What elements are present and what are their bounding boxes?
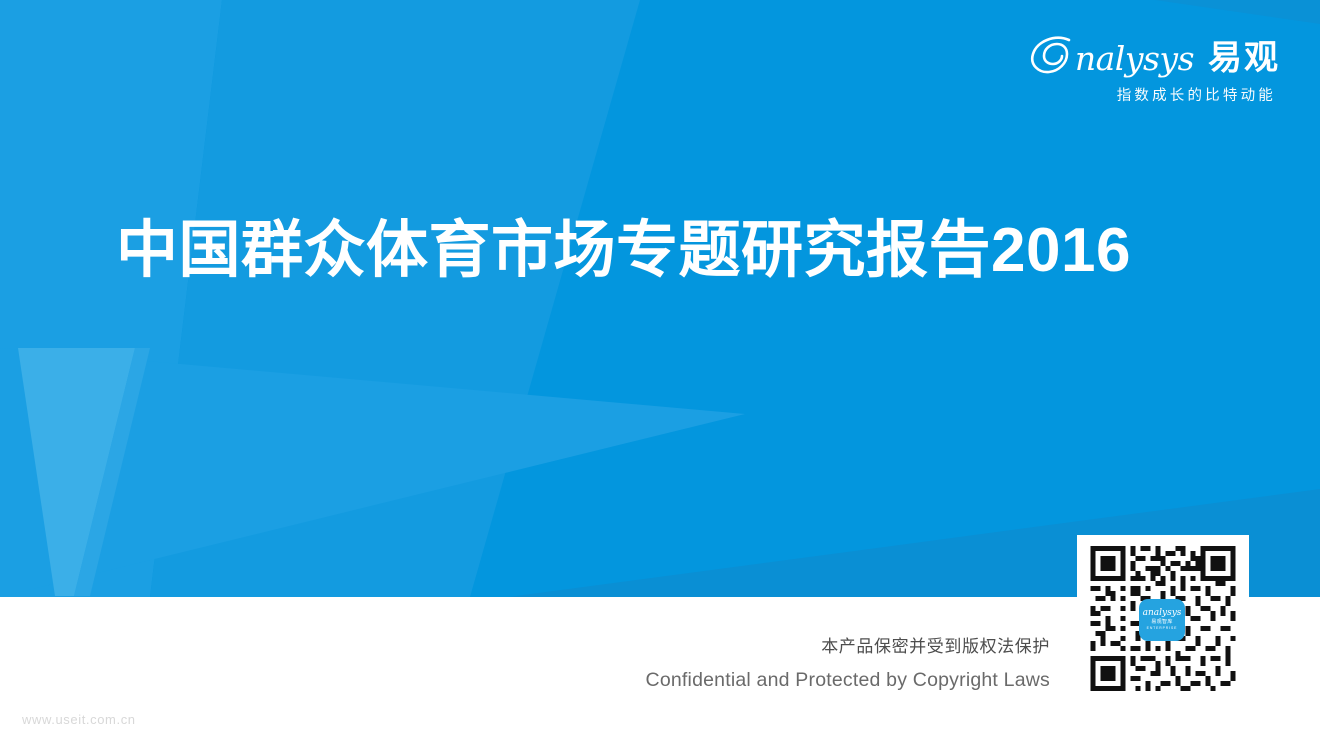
brand-wordmark: nalysys (1075, 42, 1194, 75)
copyright-english: Confidential and Protected by Copyright … (646, 666, 1050, 695)
brand-logo: nalysys 易观 指数成长的比特动能 (1010, 36, 1280, 104)
qr-badge-wordmark: analysys (1143, 609, 1182, 618)
qr-center-logo-badge: analysys 易观智库 ENTERPRISE (1139, 599, 1185, 641)
qr-badge-chinese-name: 易观智库 (1151, 620, 1173, 625)
analysys-swoosh-icon (1029, 36, 1075, 80)
qr-code-panel[interactable]: analysys 易观智库 ENTERPRISE (1077, 535, 1249, 702)
brand-chinese-name: 易观 (1208, 41, 1280, 75)
copyright-chinese: 本产品保密并受到版权法保护 (646, 634, 1050, 660)
brand-tagline: 指数成长的比特动能 (1010, 89, 1280, 104)
qr-badge-subtitle: ENTERPRISE (1147, 627, 1178, 630)
site-watermark: www.useit.com.cn (22, 712, 136, 727)
title-slide: nalysys 易观 指数成长的比特动能 中国群众体育市场专题研究报告2016 (0, 0, 1320, 743)
brand-logo-row: nalysys 易观 (1010, 36, 1280, 80)
page-title: 中国群众体育市场专题研究报告2016 (116, 216, 1131, 285)
copyright-footer: 本产品保密并受到版权法保护 Confidential and Protected… (646, 634, 1050, 695)
